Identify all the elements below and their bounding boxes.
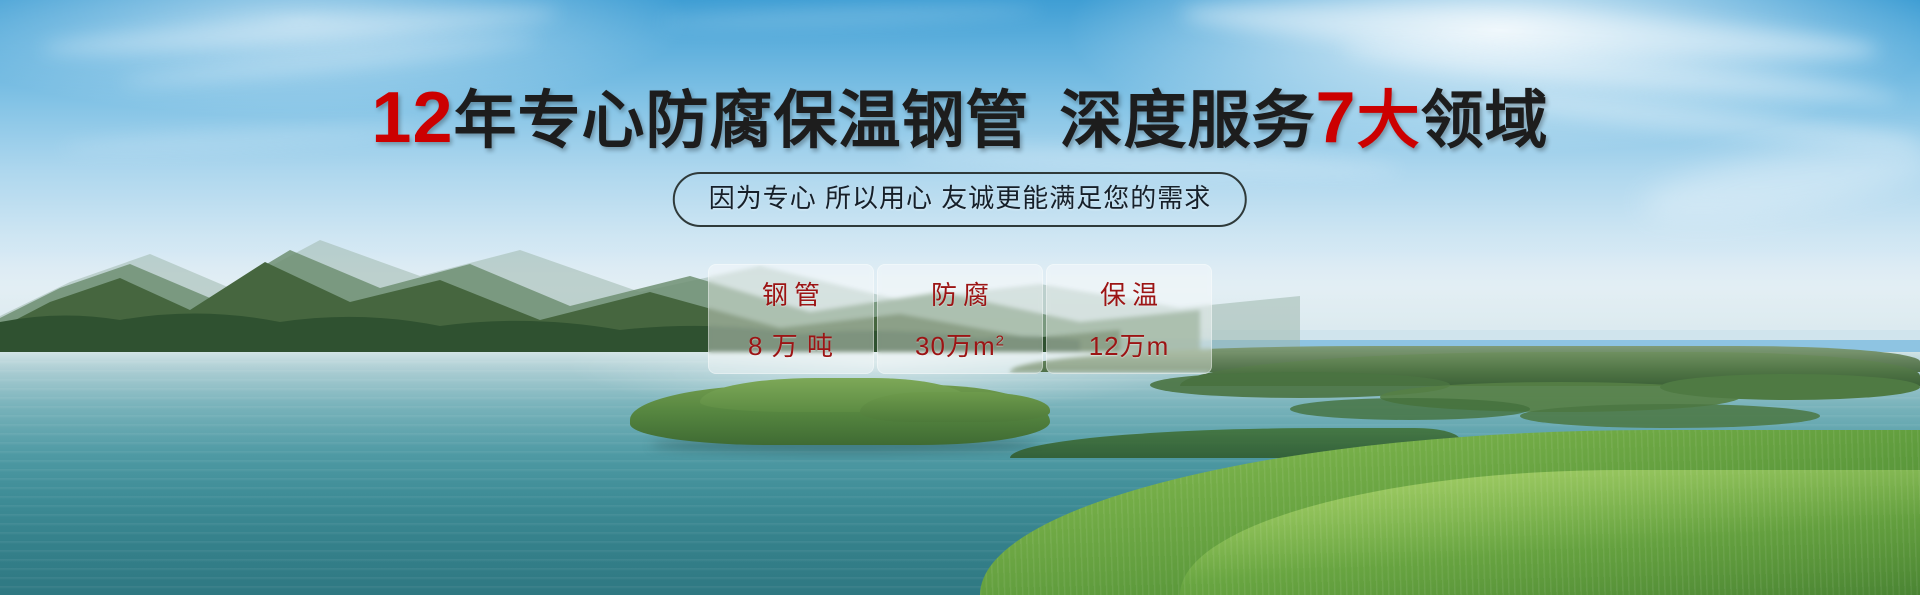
headline-segment-2: 深度服务	[1060, 86, 1316, 156]
banner-subtitle-pill: 因为专心 所以用心 友诚更能满足您的需求	[673, 172, 1247, 227]
stat-card-label: 钢管	[756, 275, 826, 312]
banner-content: 12年专心防腐保温钢管深度服务7大领域 因为专心 所以用心 友诚更能满足您的需求…	[0, 0, 1920, 595]
headline-segment-1: 年专心防腐保温钢管	[454, 86, 1030, 156]
stat-card-insulation[interactable]: 保温 12万m	[1046, 264, 1212, 374]
hero-banner: 12年专心防腐保温钢管深度服务7大领域 因为专心 所以用心 友诚更能满足您的需求…	[0, 0, 1920, 595]
stat-card-value: 30万m2	[915, 326, 1005, 363]
stat-card-anticorrosion[interactable]: 防腐 30万m2	[877, 264, 1043, 374]
stat-card-group: 钢管 8 万 吨 防腐 30万m2 保温 12万m	[708, 264, 1212, 374]
stat-card-value-superscript: 2	[996, 332, 1005, 349]
banner-headline: 12年专心防腐保温钢管深度服务7大领域	[0, 82, 1920, 154]
headline-fields-number: 7	[1316, 78, 1357, 158]
stat-card-label: 保温	[1094, 275, 1164, 312]
stat-card-value-main: 12万m	[1089, 331, 1170, 361]
stat-card-value: 12万m	[1089, 326, 1170, 363]
banner-subtitle-text: 因为专心 所以用心 友诚更能满足您的需求	[709, 183, 1211, 213]
headline-segment-3: 领域	[1421, 86, 1549, 156]
stat-card-label: 防腐	[925, 275, 995, 312]
stat-card-steel-pipe[interactable]: 钢管 8 万 吨	[708, 264, 874, 374]
stat-card-value: 8 万 吨	[748, 326, 834, 363]
stat-card-value-main: 30万m	[915, 331, 996, 361]
headline-fields-unit: 大	[1357, 86, 1421, 156]
headline-years-number: 12	[371, 78, 453, 158]
stat-card-value-main: 8 万 吨	[748, 331, 834, 361]
